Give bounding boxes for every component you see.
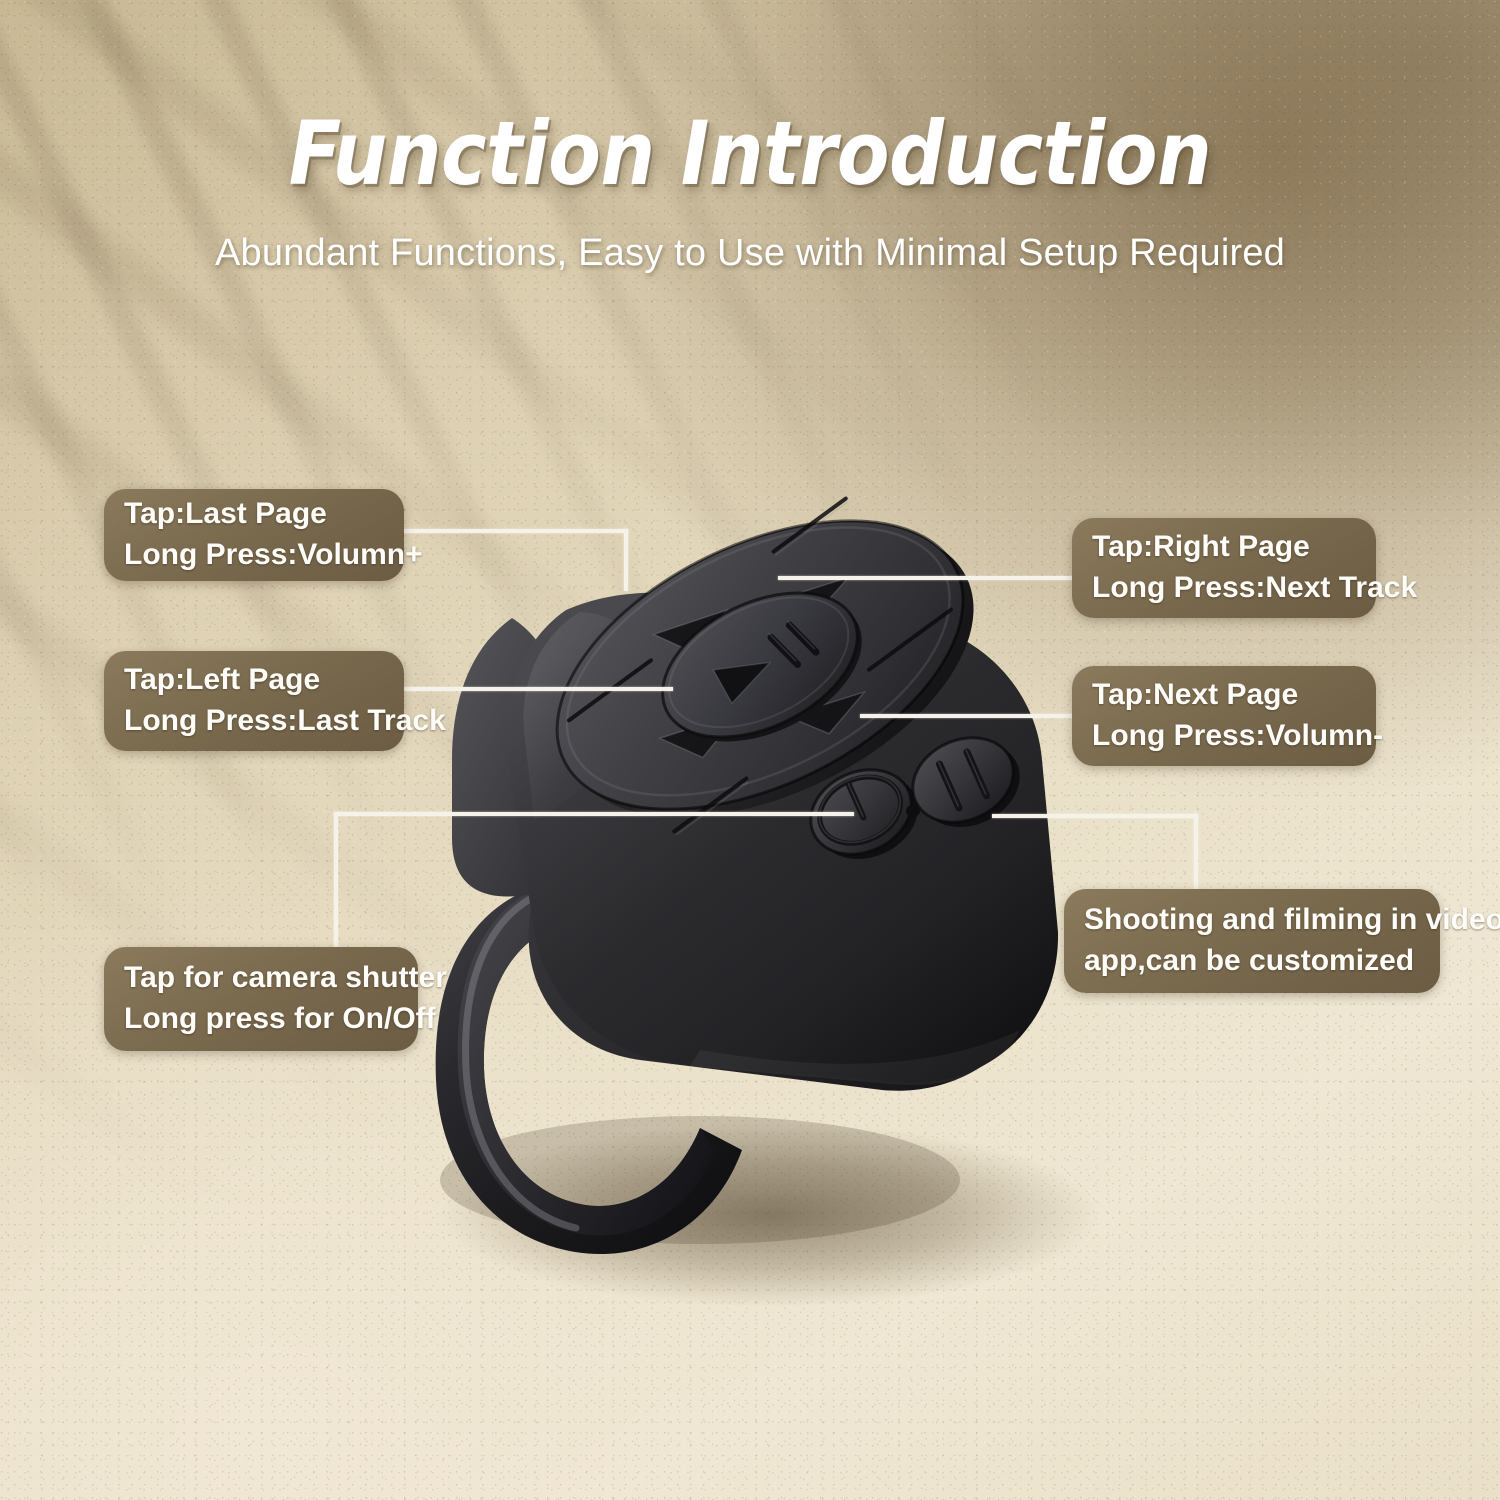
callout-bottom-right-line-1: Shooting and filming in video bbox=[1084, 904, 1420, 936]
leader-bottom-right-h bbox=[992, 814, 1198, 818]
leader-top-left-h bbox=[398, 529, 628, 533]
leader-mid-left-h bbox=[398, 687, 673, 691]
leader-top-right-h bbox=[778, 576, 1074, 580]
leader-top-left-v bbox=[624, 529, 628, 591]
callout-mid-right-line-2: Long Press:Volumn- bbox=[1092, 720, 1356, 752]
leader-mid-right-h bbox=[860, 714, 1076, 718]
callout-bottom-right-line-2: app,can be customized bbox=[1084, 945, 1420, 977]
callout-mid-left-line-1: Tap:Left Page bbox=[124, 664, 384, 696]
callout-mid-right-line-1: Tap:Next Page bbox=[1092, 679, 1356, 711]
callout-bottom-left-line-2: Long press for On/Off bbox=[124, 1003, 398, 1035]
leader-bottom-left-v bbox=[334, 812, 338, 947]
callout-bottom-left-line-1: Tap for camera shutter bbox=[124, 962, 398, 994]
page-subtitle: Abundant Functions, Easy to Use with Min… bbox=[0, 232, 1500, 275]
callout-top-right[interactable]: Tap:Right Page Long Press:Next Track bbox=[1072, 518, 1376, 618]
callout-top-right-line-1: Tap:Right Page bbox=[1092, 531, 1356, 563]
callout-mid-left-line-2: Long Press:Last Track bbox=[124, 705, 384, 737]
callout-top-left-line-2: Long Press:Volumn+ bbox=[124, 539, 384, 571]
leader-bottom-right-v bbox=[1194, 814, 1198, 889]
callout-mid-right[interactable]: Tap:Next Page Long Press:Volumn- bbox=[1072, 666, 1376, 766]
leader-bottom-left-h bbox=[334, 812, 854, 816]
product-infographic: Function Introduction Abundant Functions… bbox=[0, 0, 1500, 1500]
callout-bottom-left[interactable]: Tap for camera shutter Long press for On… bbox=[104, 947, 418, 1051]
callout-mid-left[interactable]: Tap:Left Page Long Press:Last Track bbox=[104, 651, 404, 751]
callout-bottom-right[interactable]: Shooting and filming in video app,can be… bbox=[1064, 889, 1440, 993]
callout-top-left[interactable]: Tap:Last Page Long Press:Volumn+ bbox=[104, 489, 404, 581]
callout-top-right-line-2: Long Press:Next Track bbox=[1092, 572, 1356, 604]
callout-top-left-line-1: Tap:Last Page bbox=[124, 498, 384, 530]
page-title: Function Introduction bbox=[23, 108, 1478, 200]
